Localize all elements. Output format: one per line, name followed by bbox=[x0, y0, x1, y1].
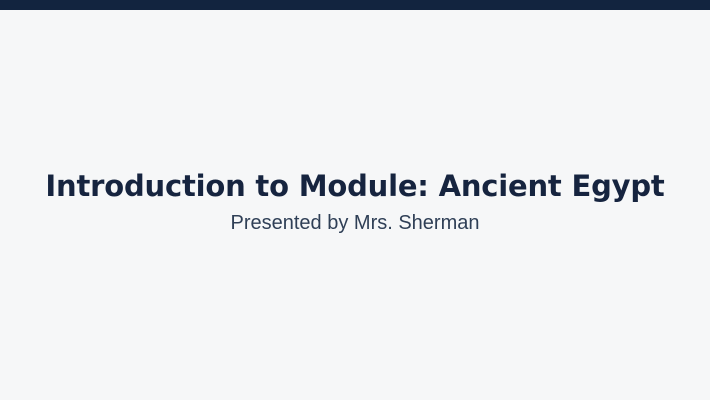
slide-title: Introduction to Module: Ancient Egypt bbox=[0, 168, 710, 204]
slide-subtitle: Presented by Mrs. Sherman bbox=[0, 210, 710, 236]
presentation-slide: Introduction to Module: Ancient Egypt Pr… bbox=[0, 0, 710, 400]
top-accent-bar bbox=[0, 0, 710, 10]
title-block: Introduction to Module: Ancient Egypt Pr… bbox=[0, 168, 710, 236]
